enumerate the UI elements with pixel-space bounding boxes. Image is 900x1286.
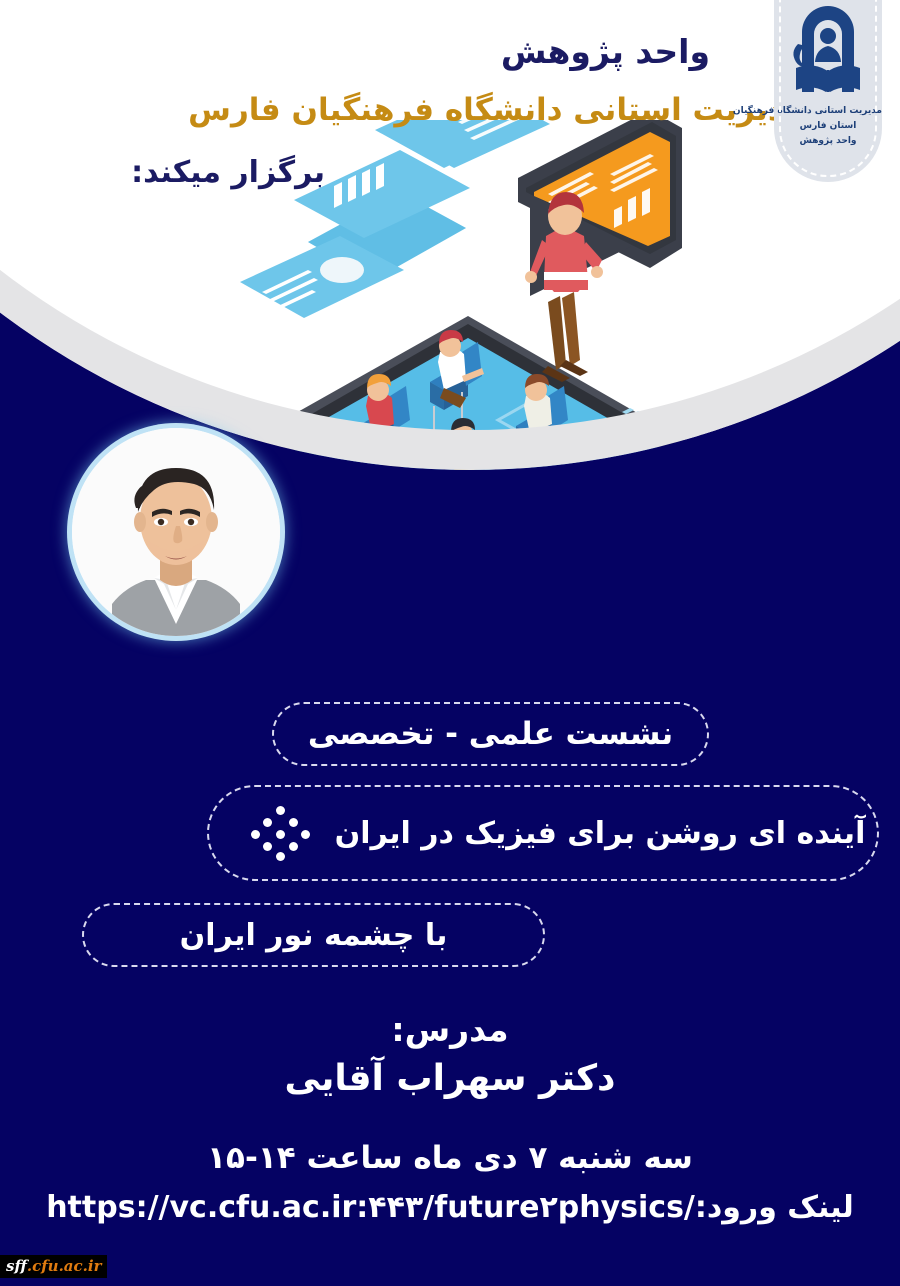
header-line-university: مدیریت استانی دانشگاه فرهنگیان فارس [188,92,805,128]
header-line-organizes: برگزار میکند: [131,155,325,190]
watermark-prefix: sff [6,1257,27,1275]
dot-pattern-icon [251,804,309,862]
event-link-label: لینک ورود: [695,1190,854,1225]
header-line-research-unit: واحد پژوهش [501,32,710,71]
pill-session-title-label: آینده ای روشن برای فیزیک در ایران [335,816,866,851]
logo-caption-line1: مدیریت استانی دانشگاه فرهنگیان [774,104,882,119]
pill-subtitle-label: با چشمه نور ایران [180,918,448,953]
pill-subtitle: با چشمه نور ایران [82,903,545,967]
event-datetime: سه شنبه ۷ دی ماه ساعت ۱۴-۱۵ [0,1140,900,1176]
logo-caption-line3: واحد پژوهش [774,134,882,149]
speaker-portrait [72,428,280,636]
site-watermark: sff.cfu.ac.ir [0,1255,107,1278]
pill-session-title: آینده ای روشن برای فیزیک در ایران [207,785,879,881]
pill-session-type: نشست علمی - تخصصی [272,702,709,766]
watermark-suffix: .cfu.ac.ir [27,1257,102,1275]
event-link-row: لینک ورود:https://vc.cfu.ac.ir:۴۴۳/futur… [0,1190,900,1225]
lecturer-name: دکتر سهراب آقایی [0,1058,900,1099]
university-crest-icon [782,0,874,108]
university-logo-tag: مدیریت استانی دانشگاه فرهنگیان استان فار… [774,0,882,182]
event-link-url[interactable]: https://vc.cfu.ac.ir:۴۴۳/future۲physics/ [46,1190,695,1225]
logo-caption: مدیریت استانی دانشگاه فرهنگیان استان فار… [774,104,882,149]
event-poster: واحد پژوهش مدیریت استانی دانشگاه فرهنگیا… [0,0,900,1286]
lecturer-label: مدرس: [0,1010,900,1049]
logo-caption-line2: استان فارس [774,119,882,134]
pill-session-type-label: نشست علمی - تخصصی [308,716,673,752]
